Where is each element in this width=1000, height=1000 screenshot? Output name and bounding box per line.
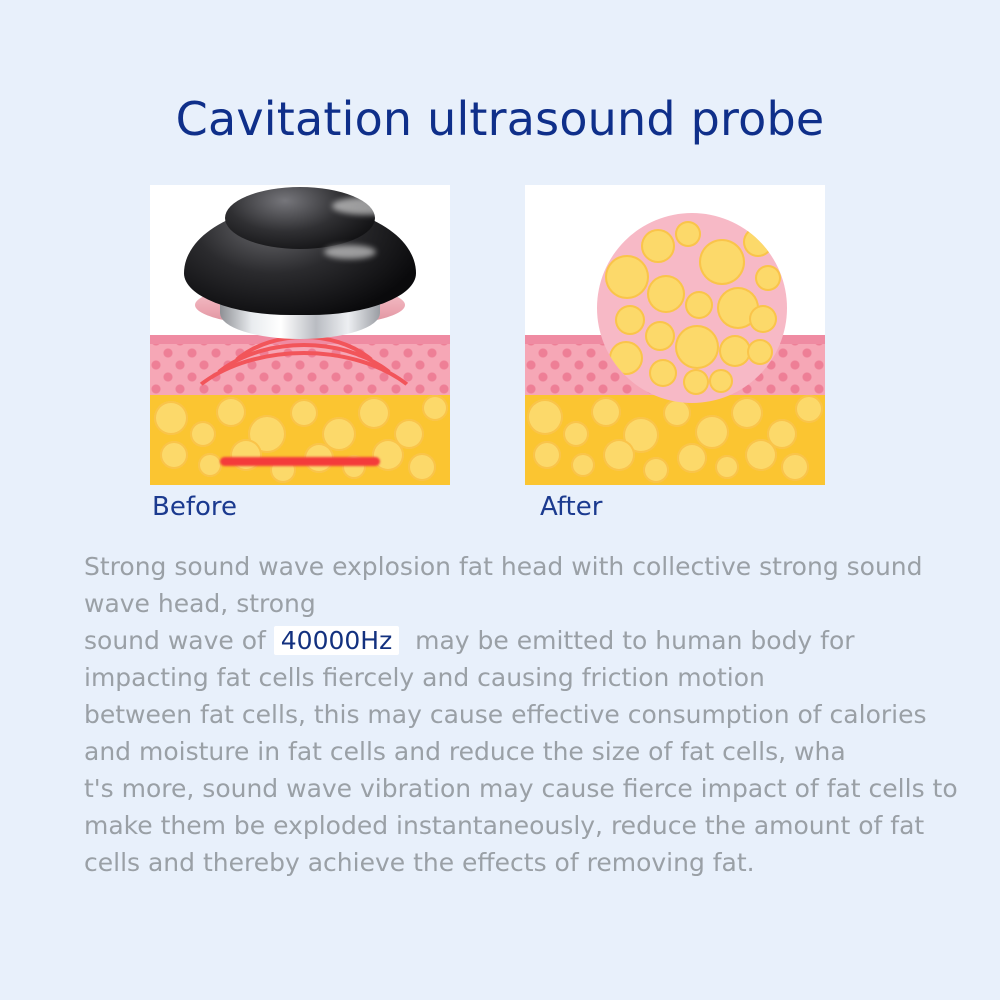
caption-after: After	[540, 492, 602, 522]
magnified-fat-cells-circle	[597, 213, 787, 403]
page-title: Cavitation ultrasound probe	[0, 92, 1000, 146]
description-text: Strong sound wave explosion fat head wit…	[84, 548, 964, 881]
caption-before: Before	[152, 492, 237, 522]
image-panel-after	[525, 185, 825, 485]
fat-layer	[525, 395, 825, 485]
image-panel-before	[150, 185, 450, 485]
description-part-2: may be emitted to human body for impacti…	[84, 626, 966, 877]
product-infographic-page: Cavitation ultrasound probe	[0, 0, 1000, 1000]
frequency-highlight: 40000Hz	[274, 626, 399, 655]
